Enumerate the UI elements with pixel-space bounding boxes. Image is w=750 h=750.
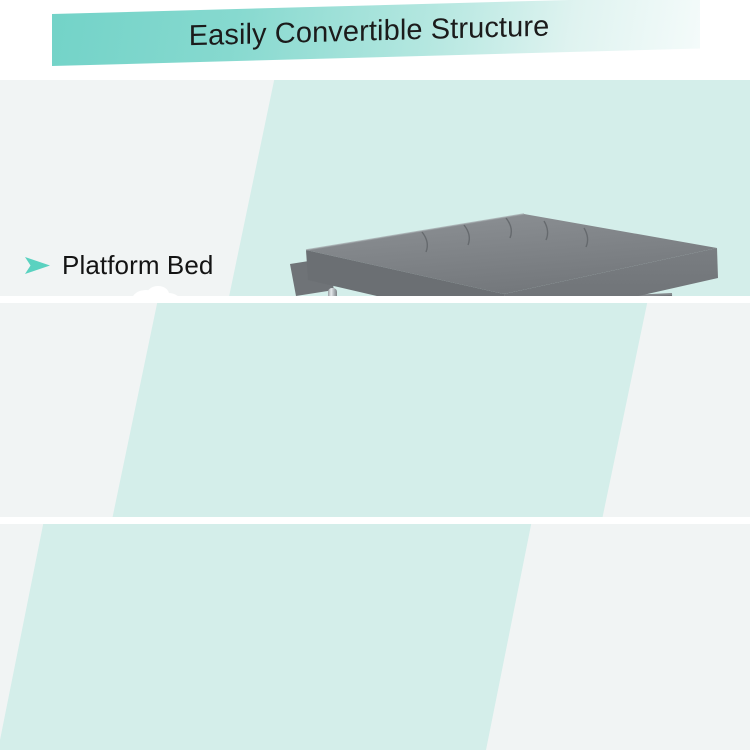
page-title: Easily Convertible Structure xyxy=(52,0,700,66)
potted-flowers-image xyxy=(80,280,230,296)
product-infographic: Easily Convertible Structure xyxy=(0,0,750,750)
mint-background-shape xyxy=(108,303,648,517)
sofa-bed-flat-icon xyxy=(272,186,722,296)
panel-label-text: Platform Bed xyxy=(62,250,214,281)
panel-three-seater-sofa: 3-Seater Sofa xyxy=(0,524,750,750)
header: Easily Convertible Structure xyxy=(0,0,750,78)
mint-background-shape xyxy=(0,524,532,750)
panel-platform-bed: Platform Bed xyxy=(0,80,750,296)
arrow-right-icon xyxy=(24,255,51,276)
panel-lounge: Lounge xyxy=(0,303,750,517)
panel-label-platform-bed: Platform Bed xyxy=(24,250,214,281)
